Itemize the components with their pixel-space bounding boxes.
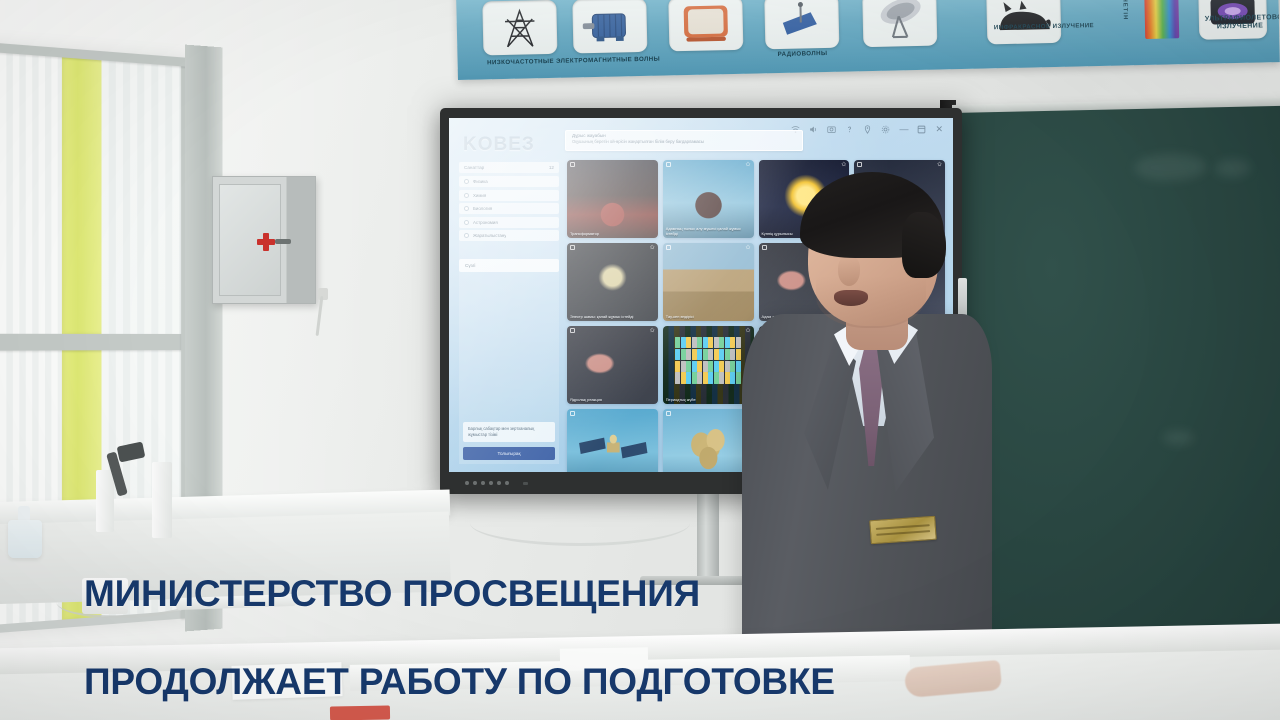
volume-up-button[interactable] bbox=[497, 481, 501, 485]
lesson-card[interactable]: ✩ Тау-кен өндірісі bbox=[663, 243, 754, 321]
radio-dot-icon bbox=[464, 233, 469, 238]
star-icon[interactable]: ✩ bbox=[841, 162, 846, 168]
curtain-white-left bbox=[0, 51, 62, 334]
star-icon[interactable]: ✩ bbox=[745, 162, 750, 168]
lesson-card[interactable]: ✩ Ядролық реакция bbox=[567, 326, 658, 404]
card-caption: Электр шамы: қалай жұмыс істейді bbox=[570, 314, 655, 319]
radio-dot-icon bbox=[464, 193, 469, 198]
radio-dot-icon bbox=[464, 220, 469, 225]
settings-icon[interactable] bbox=[881, 125, 890, 134]
filter-button[interactable]: Сүзгі bbox=[459, 259, 559, 272]
electric-motor-icon bbox=[580, 5, 639, 46]
card-thumbnail bbox=[663, 243, 754, 321]
card-thumbnail bbox=[663, 409, 754, 472]
window-pane-upper bbox=[0, 51, 182, 334]
sidebar-header-count: 12 bbox=[549, 165, 554, 170]
headline-line-2: ПРОДОЛЖАЕТ РАБОТУ ПО ПОДГОТОВКЕ bbox=[84, 660, 1214, 704]
poster-cell-satellite-dish bbox=[862, 0, 937, 47]
lesson-card[interactable]: ✩ Адамның тыныс алу мүшесі қалай жұмыс і… bbox=[663, 160, 754, 238]
star-icon[interactable]: ✩ bbox=[650, 328, 655, 334]
help-icon[interactable] bbox=[845, 125, 854, 134]
rainbow-icon bbox=[1144, 0, 1179, 39]
search-input[interactable]: Дұрыс жауабын Оқушының беретін ой-өрісін… bbox=[565, 130, 803, 151]
lab-stand-b bbox=[152, 462, 172, 538]
satellite-graphic bbox=[567, 409, 658, 472]
sidebar-item-chemistry[interactable]: Химия bbox=[459, 190, 559, 201]
card-caption: Тау-кен өндірісі bbox=[666, 314, 751, 319]
chalk-smudge bbox=[1163, 431, 1194, 445]
poster-cell-motor bbox=[572, 0, 647, 53]
star-icon[interactable]: ✩ bbox=[937, 162, 942, 168]
sidebar-header: Санаттар 12 bbox=[459, 162, 559, 173]
volume-icon[interactable] bbox=[809, 125, 818, 134]
volume-down-button[interactable] bbox=[489, 481, 493, 485]
screen-sidebar: Санаттар 12 Физика Химия Биология bbox=[459, 162, 559, 464]
hair-side bbox=[902, 212, 946, 278]
lock-icon bbox=[570, 245, 575, 250]
power-pylon-icon bbox=[498, 6, 541, 49]
lock-icon bbox=[570, 162, 575, 167]
curtain-yellow bbox=[62, 56, 102, 334]
star-icon[interactable]: ✩ bbox=[650, 245, 655, 251]
curtain-white-right bbox=[101, 59, 182, 334]
sidebar-item-biology[interactable]: Биология bbox=[459, 203, 559, 214]
mouth bbox=[834, 290, 868, 306]
nose bbox=[838, 256, 860, 286]
cabinet-handle[interactable] bbox=[275, 239, 291, 244]
satellite-dish-icon bbox=[871, 0, 928, 42]
poster-caption-radio: РАДИОВОЛНЫ bbox=[757, 49, 847, 58]
poster-cell-pylon bbox=[482, 0, 557, 55]
chalk-smudge bbox=[1134, 153, 1206, 181]
red-cross-icon bbox=[257, 233, 275, 251]
television-icon bbox=[679, 1, 732, 46]
card-caption: Ядролық реакция bbox=[570, 397, 655, 402]
lock-icon bbox=[570, 328, 575, 333]
first-aid-cabinet[interactable] bbox=[212, 176, 316, 304]
close-icon[interactable]: ✕ bbox=[935, 125, 943, 134]
poster-caption-low-frequency: НИЗКОЧАСТОТНЫЕ ЭЛЕКТРОМАГНИТНЫЕ ВОЛНЫ bbox=[474, 55, 674, 66]
sidebar-item-label: Химия bbox=[473, 193, 486, 198]
lock-icon bbox=[666, 162, 671, 167]
sidebar-note-line-2: жұмыстар тізімі bbox=[468, 432, 550, 438]
screenshot-stage: НИЗКОЧАСТОТНЫЕ ЭЛЕКТРОМАГНИТНЫЕ ВОЛНЫ РА… bbox=[0, 0, 1280, 720]
sidebar-item-label: Биология bbox=[473, 206, 492, 211]
lesson-card[interactable]: Жер серігі bbox=[567, 409, 658, 472]
sidebar-item-label: Астрономия bbox=[473, 220, 498, 225]
source-button[interactable] bbox=[473, 481, 477, 485]
card-caption: Трансформатор bbox=[570, 231, 655, 236]
sidebar-item-physics[interactable]: Физика bbox=[459, 176, 559, 187]
lock-icon bbox=[666, 411, 671, 416]
card-caption: Периодтық жүйе bbox=[666, 397, 751, 402]
sidebar-item-label: Физика bbox=[473, 179, 488, 184]
sidebar-item-science[interactable]: Жаратылыстану bbox=[459, 230, 559, 241]
sidebar-item-label: Жаратылыстану bbox=[473, 233, 506, 238]
window-mullion-horizontal bbox=[0, 334, 190, 351]
reagent-bottle bbox=[8, 520, 42, 558]
lock-icon bbox=[570, 411, 575, 416]
sidebar-header-label: Санаттар bbox=[464, 165, 484, 170]
home-button[interactable] bbox=[505, 481, 509, 485]
news-headline: МИНИСТЕРСТВО ПРОСВЕЩЕНИЯ ПРОДОЛЖАЕТ РАБО… bbox=[84, 528, 1214, 720]
poster-caption-ultraviolet: УЛЬТРАФИОЛЕТОВОЕ ИЗЛУЧЕНИЕ bbox=[1205, 14, 1275, 32]
chalk-smudge bbox=[1215, 159, 1250, 178]
lesson-card[interactable]: ✩ Электр шамы: қалай жұмыс істейді bbox=[567, 243, 658, 321]
poster-vertical-caption: КӨРІНЕТІН bbox=[1120, 0, 1129, 21]
app-logo: KOBEЗ bbox=[463, 134, 535, 156]
screenshot-icon[interactable] bbox=[827, 125, 836, 134]
card-thumbnail bbox=[567, 326, 658, 404]
card-thumbnail bbox=[567, 409, 658, 472]
sidebar-note: Барлық сабақтар мен зертханалық жұмыстар… bbox=[463, 422, 555, 442]
minimize-icon[interactable]: — bbox=[899, 125, 908, 134]
sidebar-cta-button[interactable]: Толығырақ bbox=[463, 447, 555, 460]
lesson-card[interactable]: ✩ Периодтық жүйе bbox=[663, 326, 754, 404]
status-led bbox=[523, 482, 528, 485]
location-icon[interactable] bbox=[863, 125, 872, 134]
menu-button[interactable] bbox=[481, 481, 485, 485]
lab-stand-a bbox=[96, 470, 114, 532]
maximize-icon[interactable] bbox=[917, 125, 926, 134]
power-button[interactable] bbox=[465, 481, 469, 485]
periodic-table-graphic bbox=[675, 337, 740, 384]
headline-line-1: МИНИСТЕРСТВО ПРОСВЕЩЕНИЯ bbox=[84, 572, 1214, 616]
lesson-card[interactable]: Трансформатор bbox=[567, 160, 658, 238]
sidebar-item-astronomy[interactable]: Астрономия bbox=[459, 217, 559, 228]
search-line-2: Оқушының беретін ой-өрісін жаңартылған б… bbox=[572, 139, 796, 145]
card-thumbnail bbox=[567, 243, 658, 321]
poster-cell-radio-antenna bbox=[764, 0, 839, 49]
lesson-card[interactable]: Атом құрылымы bbox=[663, 409, 754, 472]
radio-dot-icon bbox=[464, 179, 469, 184]
lock-icon bbox=[857, 162, 862, 167]
card-thumbnail bbox=[663, 326, 754, 404]
lock-icon bbox=[666, 245, 671, 250]
radio-antenna-icon bbox=[776, 0, 827, 43]
card-thumbnail bbox=[567, 160, 658, 238]
atom-graphic bbox=[663, 409, 754, 472]
radio-dot-icon bbox=[464, 206, 469, 211]
card-caption: Адамның тыныс алу мүшесі қалай жұмыс іст… bbox=[666, 226, 751, 236]
poster-cell-television bbox=[668, 0, 743, 51]
